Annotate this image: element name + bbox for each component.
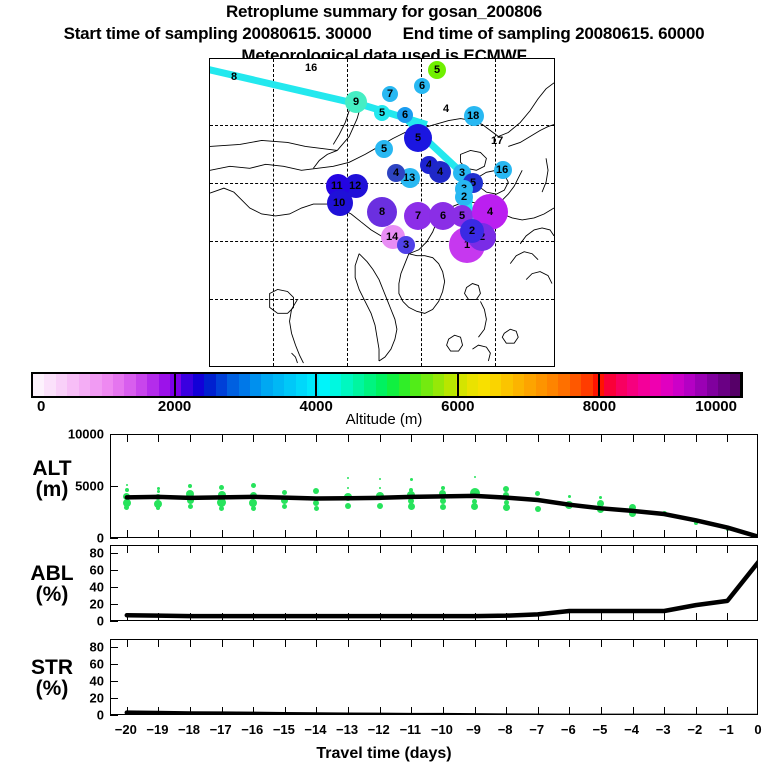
x-axis-tick (569, 707, 570, 714)
colorbar-segment (650, 374, 661, 396)
x-axis-tick (443, 613, 444, 620)
x-axis-tick (696, 613, 697, 620)
x-tick-label: −8 (498, 722, 513, 737)
x-axis-tick (506, 707, 507, 714)
map-marker-label: 10 (333, 198, 345, 209)
x-axis-tick (222, 707, 223, 714)
x-axis-tick (443, 530, 444, 537)
x-axis-tick (633, 707, 634, 714)
map-marker-label: 8 (379, 207, 385, 218)
map-marker-label: 8 (231, 72, 237, 83)
x-axis-tick (443, 546, 444, 553)
colorbar-segment (193, 374, 204, 396)
x-tick-label: −3 (656, 722, 671, 737)
map-gridline-v (273, 59, 274, 366)
colorbar-segment (90, 374, 101, 396)
colorbar-segment (376, 374, 387, 396)
x-axis-tick (696, 640, 697, 647)
x-axis-tick (601, 435, 602, 442)
colorbar-segment (604, 374, 615, 396)
x-axis-tick (285, 707, 286, 714)
x-axis-tick (443, 640, 444, 647)
str-y-tick-label: 80 (0, 640, 110, 655)
x-axis-tick (443, 707, 444, 714)
x-axis-tick (664, 613, 665, 620)
colorbar-segment (673, 374, 684, 396)
colorbar-segment (227, 374, 238, 396)
x-tick-label: −19 (146, 722, 168, 737)
x-axis-tick (475, 435, 476, 442)
x-tick-label: −10 (431, 722, 453, 737)
colorbar-title: Altitude (m) (0, 411, 768, 428)
x-axis-tick (190, 707, 191, 714)
colorbar-segment (113, 374, 124, 396)
x-axis-tick (285, 435, 286, 442)
str-y-tick-label: 60 (0, 657, 110, 672)
x-axis-tick (538, 435, 539, 442)
colorbar-segment (581, 374, 592, 396)
x-axis-tick (601, 640, 602, 647)
map-marker-label: 5 (434, 65, 440, 76)
x-axis-tick (316, 613, 317, 620)
x-tick-label: −7 (529, 722, 544, 737)
x-axis-tick (190, 546, 191, 553)
x-axis-tick (727, 640, 728, 647)
x-axis-tick (253, 640, 254, 647)
colorbar-segment (501, 374, 512, 396)
map-marker-label: 6 (419, 81, 425, 92)
x-axis-tick (380, 435, 381, 442)
x-axis-tick (411, 707, 412, 714)
x-axis-tick (158, 435, 159, 442)
colorbar-segment (296, 374, 307, 396)
map-marker-label: 9 (353, 97, 359, 108)
x-axis-tick (538, 640, 539, 647)
str-y-tick-label: 0 (0, 708, 110, 723)
x-axis-tick (253, 613, 254, 620)
alt-y-tick-label: 0 (0, 531, 110, 546)
x-axis-tick (664, 435, 665, 442)
x-axis-tick (569, 530, 570, 537)
alt-y-tick-label: 10000 (0, 427, 110, 442)
x-axis-tick (411, 640, 412, 647)
x-axis-tick (348, 530, 349, 537)
retroplume-map[interactable]: 8165769654185517431641345312111028765414… (209, 58, 555, 367)
map-marker-label: 4 (393, 168, 399, 179)
x-axis-tick (696, 435, 697, 442)
x-axis-tick (727, 435, 728, 442)
colorbar-segment (330, 374, 341, 396)
colorbar-segment (536, 374, 547, 396)
colorbar-segment (341, 374, 352, 396)
abl-y-tick (110, 570, 118, 571)
colorbar-segment (319, 374, 330, 396)
x-axis-tick (727, 707, 728, 714)
abl-y-tick-label: 80 (0, 546, 110, 561)
colorbar-segment (136, 374, 147, 396)
colorbar-segment (181, 374, 192, 396)
colorbar-segment (490, 374, 501, 396)
x-axis-tick (222, 530, 223, 537)
colorbar-segment (433, 374, 444, 396)
x-axis-tick (380, 613, 381, 620)
x-axis-tick (316, 640, 317, 647)
x-axis-tick (727, 546, 728, 553)
x-axis-tick (411, 530, 412, 537)
map-marker-label: 4 (437, 167, 443, 178)
colorbar-segment (124, 374, 135, 396)
colorbar-segment (444, 374, 455, 396)
x-tick-label: −6 (561, 722, 576, 737)
start-time-label: Start time of sampling 20080615. 30000 (64, 24, 372, 43)
x-axis-tick (569, 613, 570, 620)
page-title: Retroplume summary for gosan_200806 (0, 2, 768, 22)
colorbar-segment (421, 374, 432, 396)
colorbar-segment (558, 374, 569, 396)
colorbar-segment (399, 374, 410, 396)
x-axis-tick (475, 546, 476, 553)
x-tick-label: −18 (178, 722, 200, 737)
map-marker-label: 5 (381, 144, 387, 155)
x-axis-tick (664, 640, 665, 647)
x-axis-title: Travel time (days) (0, 745, 768, 763)
colorbar-segment (353, 374, 364, 396)
x-axis-tick (316, 707, 317, 714)
x-axis-tick (190, 640, 191, 647)
x-axis-tick (633, 546, 634, 553)
x-axis-tick (475, 640, 476, 647)
x-axis-tick (569, 640, 570, 647)
str-y-tick (110, 715, 118, 716)
x-axis-tick (727, 613, 728, 620)
colorbar-segment (273, 374, 284, 396)
str-line (111, 640, 758, 715)
alt-panel[interactable] (110, 434, 758, 538)
x-tick-label: −13 (336, 722, 358, 737)
map-marker-label: 16 (305, 63, 317, 74)
x-axis-tick (127, 530, 128, 537)
x-tick-label: −15 (273, 722, 295, 737)
colorbar-segment (707, 374, 718, 396)
map-marker-label: 17 (491, 136, 503, 147)
colorbar-segment (570, 374, 581, 396)
x-tick-label: −14 (304, 722, 326, 737)
map-marker-label: 7 (387, 89, 393, 100)
x-axis-tick (633, 613, 634, 620)
x-axis-tick (727, 530, 728, 537)
colorbar-segment (147, 374, 158, 396)
colorbar-major-tick (598, 372, 600, 398)
x-axis-tick (222, 613, 223, 620)
colorbar-segment (79, 374, 90, 396)
x-axis-tick (696, 546, 697, 553)
x-axis-tick (633, 530, 634, 537)
colorbar-segment (467, 374, 478, 396)
colorbar-segment (616, 374, 627, 396)
x-axis-tick (158, 613, 159, 620)
x-axis-tick (411, 613, 412, 620)
colorbar-segment (102, 374, 113, 396)
x-axis-tick (127, 640, 128, 647)
x-axis-tick (601, 613, 602, 620)
x-tick-label: −9 (466, 722, 481, 737)
colorbar-segment (33, 374, 44, 396)
x-axis-tick (633, 640, 634, 647)
x-axis-tick (348, 546, 349, 553)
x-axis-tick (348, 613, 349, 620)
x-axis-tick (190, 435, 191, 442)
x-axis-tick (253, 530, 254, 537)
x-axis-tick (222, 640, 223, 647)
x-axis-tick (696, 530, 697, 537)
colorbar-segment (170, 374, 181, 396)
x-tick-label: −20 (115, 722, 137, 737)
x-axis-tick (253, 435, 254, 442)
x-axis-tick (316, 435, 317, 442)
x-axis-tick (538, 613, 539, 620)
abl-y-tick-label: 0 (0, 614, 110, 629)
x-axis-tick (601, 530, 602, 537)
map-marker-label: 12 (349, 181, 361, 192)
map-marker-label: 5 (415, 133, 421, 144)
colorbar-major-tick (174, 372, 176, 398)
str-y-tick (110, 664, 118, 665)
x-axis-tick (190, 613, 191, 620)
x-axis-tick (601, 707, 602, 714)
x-axis-tick (348, 640, 349, 647)
colorbar-segment (204, 374, 215, 396)
x-axis-tick (158, 546, 159, 553)
x-axis-tick (253, 546, 254, 553)
x-axis-tick (380, 640, 381, 647)
x-axis-tick (316, 530, 317, 537)
x-axis-tick (158, 640, 159, 647)
x-axis-tick (475, 613, 476, 620)
map-marker-label: 6 (440, 211, 446, 222)
x-axis-tick (285, 640, 286, 647)
x-tick-label: −11 (400, 722, 421, 737)
colorbar-segment (718, 374, 729, 396)
map-marker-label: 2 (461, 192, 467, 203)
x-tick-label: −12 (368, 722, 390, 737)
x-axis-tick (190, 530, 191, 537)
x-axis-tick (285, 613, 286, 620)
sampling-time-line: Start time of sampling 20080615. 30000 E… (0, 24, 768, 44)
x-axis-tick (506, 613, 507, 620)
x-axis-tick (664, 546, 665, 553)
x-tick-label: −16 (241, 722, 263, 737)
altitude-colorbar[interactable] (31, 372, 743, 398)
x-axis-tick (696, 707, 697, 714)
colorbar-segment (261, 374, 272, 396)
map-marker-label: 3 (403, 240, 409, 251)
colorbar-segment (284, 374, 295, 396)
x-axis-tick (222, 435, 223, 442)
colorbar-segment (56, 374, 67, 396)
x-tick-label: −4 (624, 722, 639, 737)
map-marker-label: 18 (467, 111, 479, 122)
str-y-tick-label: 40 (0, 674, 110, 689)
str-panel[interactable] (110, 639, 758, 715)
x-axis-tick (127, 707, 128, 714)
map-gridline-h (210, 299, 554, 300)
x-axis-tick (411, 546, 412, 553)
x-axis-tick (127, 435, 128, 442)
x-tick-label: −2 (687, 722, 702, 737)
str-y-tick (110, 698, 118, 699)
x-axis-tick (158, 707, 159, 714)
colorbar-segment (67, 374, 78, 396)
x-axis-tick (127, 546, 128, 553)
colorbar-major-tick (740, 372, 742, 398)
colorbar-segment (387, 374, 398, 396)
x-axis-tick (443, 435, 444, 442)
alt-y-tick-label: 5000 (0, 479, 110, 494)
end-time-label: End time of sampling 20080615. 60000 (403, 24, 705, 43)
x-axis-tick (222, 546, 223, 553)
x-axis-tick (664, 707, 665, 714)
alt-mean-line (111, 435, 758, 538)
colorbar-segment (513, 374, 524, 396)
map-gridline-h (210, 125, 554, 126)
abl-y-tick (110, 621, 118, 622)
x-axis-tick (285, 530, 286, 537)
x-axis-tick (285, 546, 286, 553)
x-axis-tick (506, 435, 507, 442)
map-marker-label: 6 (402, 110, 408, 121)
x-axis-tick (506, 530, 507, 537)
map-marker-label: 2 (469, 226, 475, 237)
x-axis-tick (538, 707, 539, 714)
str-y-tick (110, 647, 118, 648)
x-tick-label: −17 (210, 722, 232, 737)
colorbar-segment (364, 374, 375, 396)
abl-y-tick (110, 553, 118, 554)
colorbar-segment (159, 374, 170, 396)
abl-line (111, 546, 758, 621)
abl-y-tick (110, 604, 118, 605)
x-axis-tick (506, 546, 507, 553)
colorbar-segment (695, 374, 706, 396)
colorbar-segment (410, 374, 421, 396)
abl-y-tick (110, 587, 118, 588)
map-marker-label: 5 (379, 108, 385, 119)
abl-y-tick-label: 20 (0, 597, 110, 612)
colorbar-segment (661, 374, 672, 396)
x-axis-tick (506, 640, 507, 647)
colorbar-segment (684, 374, 695, 396)
x-axis-tick (158, 530, 159, 537)
x-axis-tick (538, 546, 539, 553)
x-axis-tick (569, 546, 570, 553)
colorbar-segment (627, 374, 638, 396)
abl-y-tick-label: 60 (0, 563, 110, 578)
map-marker-label: 4 (487, 207, 493, 218)
alt-y-tick (110, 486, 118, 487)
colorbar-segment (250, 374, 261, 396)
colorbar-segment (524, 374, 535, 396)
x-axis-tick (601, 546, 602, 553)
x-axis-tick (380, 707, 381, 714)
x-axis-tick (253, 707, 254, 714)
colorbar-major-tick (315, 372, 317, 398)
x-axis-tick (475, 707, 476, 714)
map-marker-label: 4 (443, 104, 449, 115)
x-axis-tick (664, 530, 665, 537)
colorbar-segment (216, 374, 227, 396)
str-y-tick-label: 20 (0, 691, 110, 706)
x-axis-tick (569, 435, 570, 442)
colorbar-segment (638, 374, 649, 396)
x-axis-tick (380, 530, 381, 537)
x-axis-tick (633, 435, 634, 442)
x-axis-tick (538, 530, 539, 537)
alt-y-tick (110, 434, 118, 435)
colorbar-segment (44, 374, 55, 396)
x-axis-tick (316, 546, 317, 553)
map-marker-label: 7 (415, 211, 421, 222)
alt-y-tick (110, 538, 118, 539)
colorbar-segment (478, 374, 489, 396)
x-axis-tick (475, 530, 476, 537)
abl-y-tick-label: 40 (0, 580, 110, 595)
x-axis-tick (411, 435, 412, 442)
x-axis-tick (348, 435, 349, 442)
x-axis-tick (348, 707, 349, 714)
x-tick-label: 0 (754, 722, 761, 737)
str-y-tick (110, 681, 118, 682)
map-marker-label: 16 (496, 165, 508, 176)
colorbar-major-tick (457, 372, 459, 398)
x-tick-label: −5 (593, 722, 608, 737)
x-axis-tick (380, 546, 381, 553)
colorbar-segment (239, 374, 250, 396)
abl-panel[interactable] (110, 545, 758, 621)
x-axis-tick (127, 613, 128, 620)
map-gridline-h (210, 183, 554, 184)
x-tick-label: −1 (719, 722, 734, 737)
colorbar-segment (547, 374, 558, 396)
